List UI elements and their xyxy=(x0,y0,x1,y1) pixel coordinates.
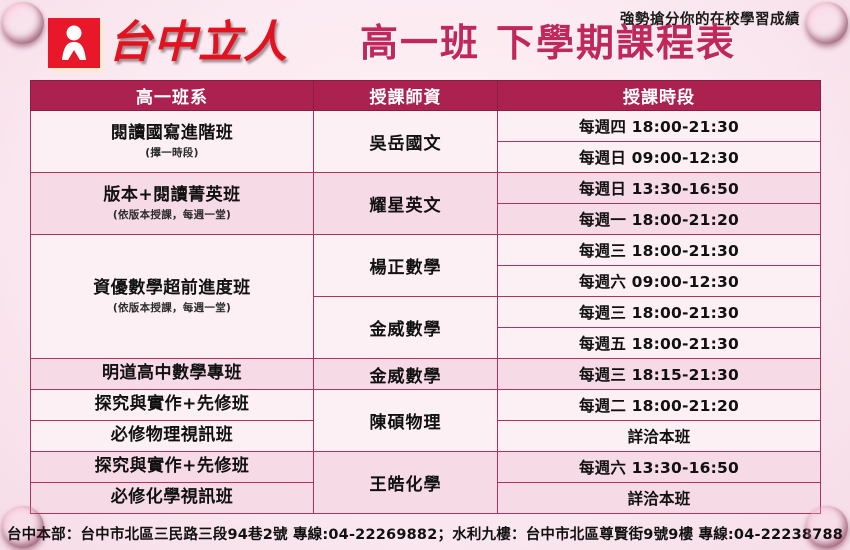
corner-ball-bottom-left xyxy=(2,506,44,548)
page-title: 高一班下學期課程表 xyxy=(360,24,736,62)
slot-cell: 每週四 18:00-21:30 xyxy=(498,111,821,142)
poster-header: 台中立人 強勢搶分你的在校學習成績 高一班下學期課程表 xyxy=(0,0,850,80)
course-cell: 必修化學視訊班 xyxy=(31,483,314,514)
course-name: 版本+閱讀菁英班 xyxy=(103,185,240,205)
brand-lockup: 台中立人 xyxy=(48,18,288,68)
table-row: 資優數學超前進度班 (依版本授課，每週一堂) 楊正數學 每週三 18:00-21… xyxy=(31,235,821,266)
slot-cell: 每週二 18:00-21:20 xyxy=(498,390,821,421)
course-cell: 版本+閱讀菁英班 (依版本授課，每週一堂) xyxy=(31,173,314,235)
slot-cell: 每週日 13:30-16:50 xyxy=(498,173,821,204)
course-name: 必修物理視訊班 xyxy=(111,425,234,445)
corner-ball-bottom-right xyxy=(806,506,848,548)
teacher-cell: 王皓化學 xyxy=(314,452,498,514)
corner-ball-top-right xyxy=(806,2,848,44)
table-row: 探究與實作+先修班 王皓化學 每週六 13:30-16:50 xyxy=(31,452,821,483)
table-row: 閱讀國寫進階班 (擇一時段) 吳岳國文 每週四 18:00-21:30 xyxy=(31,111,821,142)
teacher-cell: 陳碩物理 xyxy=(314,390,498,452)
course-cell: 探究與實作+先修班 xyxy=(31,390,314,421)
course-name: 探究與實作+先修班 xyxy=(95,394,250,414)
table-row: 明道高中數學專班 金威數學 每週三 18:15-21:30 xyxy=(31,359,821,390)
brand-name: 台中立人 xyxy=(108,21,288,65)
table-header-row: 高一班系 授課師資 授課時段 xyxy=(31,81,821,111)
slot-cell: 每週日 09:00-12:30 xyxy=(498,142,821,173)
course-cell: 探究與實作+先修班 xyxy=(31,452,314,483)
course-cell: 閱讀國寫進階班 (擇一時段) xyxy=(31,111,314,173)
course-name: 必修化學視訊班 xyxy=(111,487,234,507)
course-note: (依版本授課，每週一堂) xyxy=(31,302,313,315)
corner-ball-top-left xyxy=(2,2,44,44)
column-header-teacher: 授課師資 xyxy=(314,81,498,111)
slot-cell: 每週一 18:00-21:20 xyxy=(498,204,821,235)
title-grade: 高一班 xyxy=(360,21,480,65)
table-row: 探究與實作+先修班 陳碩物理 每週二 18:00-21:20 xyxy=(31,390,821,421)
column-header-course: 高一班系 xyxy=(31,81,314,111)
footer-contact-info: 台中本部：台中市北區三民路三段94巷2號 專線:04-22269882；水利九樓… xyxy=(7,523,843,544)
slot-cell: 每週六 13:30-16:50 xyxy=(498,452,821,483)
course-name: 探究與實作+先修班 xyxy=(95,456,250,476)
course-name: 明道高中數學專班 xyxy=(102,363,242,383)
footer-bar: 台中本部：台中市北區三民路三段94巷2號 專線:04-22269882；水利九樓… xyxy=(0,516,850,550)
teacher-cell: 吳岳國文 xyxy=(314,111,498,173)
slot-cell: 每週三 18:15-21:30 xyxy=(498,359,821,390)
teacher-cell: 耀星英文 xyxy=(314,173,498,235)
slot-cell: 每週三 18:00-21:30 xyxy=(498,297,821,328)
person-figure-icon xyxy=(48,18,100,68)
teacher-cell: 楊正數學 xyxy=(314,235,498,297)
schedule-table: 高一班系 授課師資 授課時段 閱讀國寫進階班 (擇一時段) 吳岳國文 每週四 1… xyxy=(30,80,821,514)
course-cell: 資優數學超前進度班 (依版本授課，每週一堂) xyxy=(31,235,314,359)
course-cell: 明道高中數學專班 xyxy=(31,359,314,390)
course-note: (擇一時段) xyxy=(31,147,313,160)
title-term: 下學期課程表 xyxy=(496,21,736,65)
teacher-cell: 金威數學 xyxy=(314,359,498,390)
course-name: 資優數學超前進度班 xyxy=(93,278,251,298)
course-name: 閱讀國寫進階班 xyxy=(111,123,234,143)
course-note: (依版本授課，每週一堂) xyxy=(31,209,313,222)
table-row: 版本+閱讀菁英班 (依版本授課，每週一堂) 耀星英文 每週日 13:30-16:… xyxy=(31,173,821,204)
course-cell: 必修物理視訊班 xyxy=(31,421,314,452)
slot-cell: 詳洽本班 xyxy=(498,483,821,514)
slot-cell: 詳洽本班 xyxy=(498,421,821,452)
slot-cell: 每週三 18:00-21:30 xyxy=(498,235,821,266)
column-header-slot: 授課時段 xyxy=(498,81,821,111)
slot-cell: 每週五 18:00-21:30 xyxy=(498,328,821,359)
slot-cell: 每週六 09:00-12:30 xyxy=(498,266,821,297)
teacher-cell: 金威數學 xyxy=(314,297,498,359)
